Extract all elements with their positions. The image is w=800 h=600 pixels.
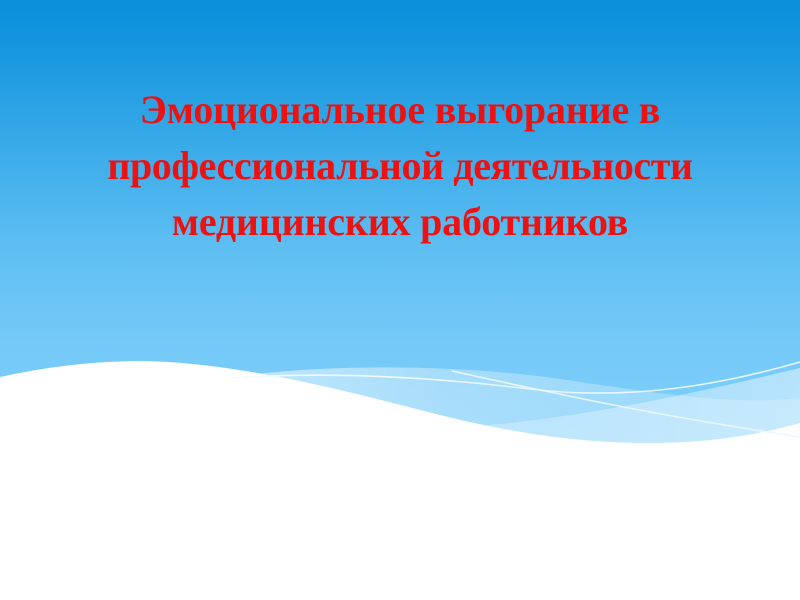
page-title: Эмоциональное выгорание в профессиональн… (0, 82, 800, 250)
title-line-1: Эмоциональное выгорание в (18, 82, 782, 138)
title-line-2: профессиональной деятельности (18, 138, 782, 194)
title-line-3: медицинских работников (18, 194, 782, 250)
title-slide: Эмоциональное выгорание в профессиональн… (0, 0, 800, 600)
